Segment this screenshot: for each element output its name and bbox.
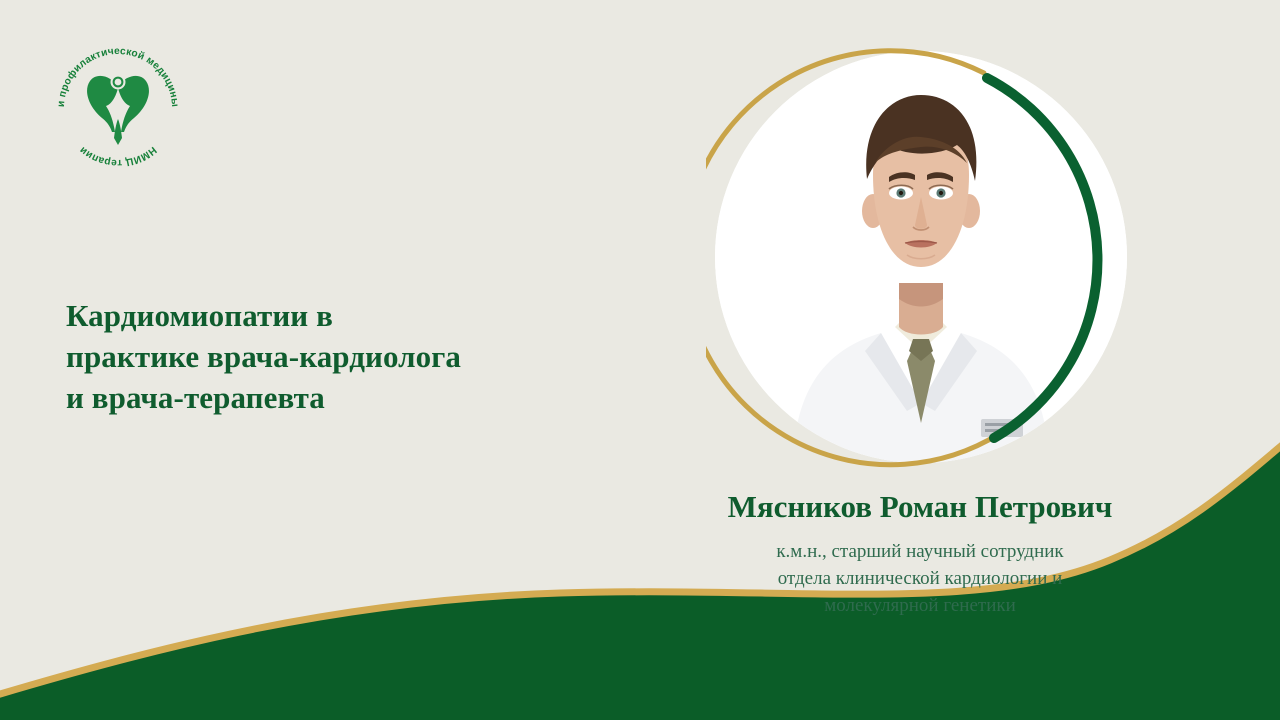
- speaker-role-line-1: к.м.н., старший научный сотрудник: [640, 538, 1200, 565]
- speaker-name: Мясников Роман Петрович: [640, 488, 1200, 526]
- logo-heart-emblem: [87, 75, 149, 146]
- presentation-slide: и профилактической медицины НМИЦ терапии…: [0, 0, 1280, 720]
- title-line-3: и врача-терапевта: [66, 377, 626, 418]
- title-line-1: Кардиомиопатии в: [66, 295, 626, 336]
- slide-title: Кардиомиопатии в практике врача-кардиоло…: [66, 295, 626, 418]
- portrait-ring-green-arc: [987, 78, 1097, 438]
- portrait-ring: [706, 42, 1136, 472]
- speaker-role-line-3: молекулярной генетики: [640, 592, 1200, 619]
- speaker-role: к.м.н., старший научный сотрудник отдела…: [640, 538, 1200, 619]
- speaker-portrait: [706, 42, 1136, 472]
- speaker-info: Мясников Роман Петрович к.м.н., старший …: [640, 488, 1200, 619]
- title-line-2: практике врача-кардиолога: [66, 336, 626, 377]
- nmic-logo: и профилактической медицины НМИЦ терапии: [52, 42, 184, 174]
- portrait-ring-gold-arc: [706, 51, 999, 465]
- speaker-role-line-2: отдела клинической кардиологии и: [640, 565, 1200, 592]
- logo-ring-text-bottom: НМИЦ терапии: [78, 144, 158, 168]
